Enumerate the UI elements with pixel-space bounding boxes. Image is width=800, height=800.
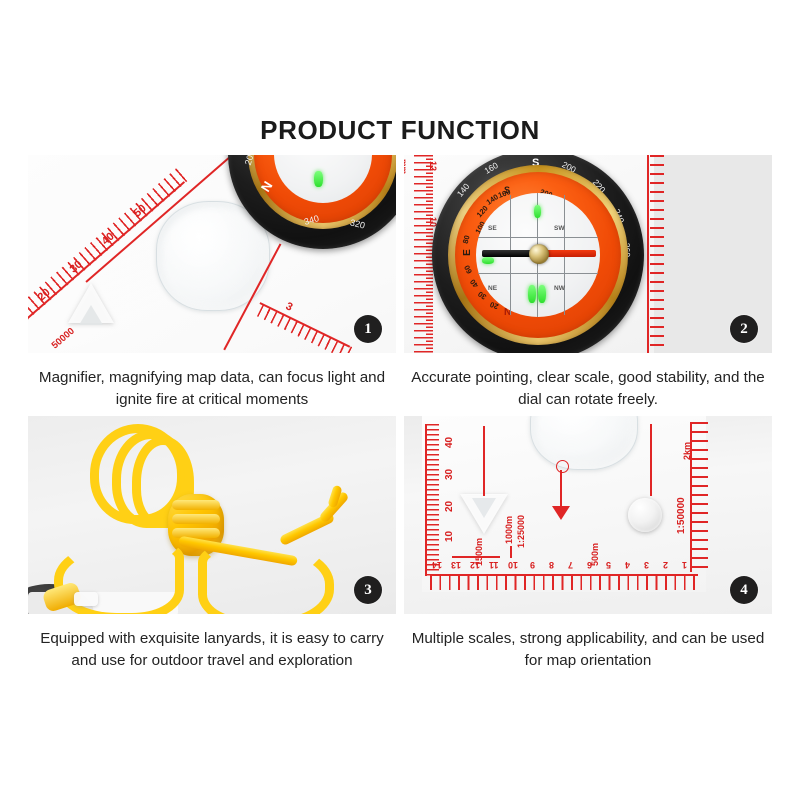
step-badge-1: 1 — [354, 315, 382, 343]
direction-arrow-head — [552, 506, 570, 520]
feature-card-4: 10 20 30 40 1:25000 1000m 1500m — [404, 416, 772, 671]
left-ruler-ticks — [414, 155, 426, 353]
bottom-ruler-label-1: 1 — [682, 560, 687, 570]
triangle-sight-inner — [79, 305, 103, 325]
dial-intercardinal-nw: NW — [554, 285, 565, 292]
compass-dial-full: 140 160 200 220 240 260 280 300 320 340 … — [432, 155, 644, 353]
feature-image-2: 12 10 mm 140 160 200 220 240 260 — [404, 155, 772, 353]
product-function-infographic: PRODUCT FUNCTION 20 30 40 50 — [0, 0, 800, 800]
lume-marker-bottom-left — [528, 285, 536, 303]
feature-image-4: 10 20 30 40 1:25000 1000m 1500m — [404, 416, 772, 614]
step-badge-2: 2 — [730, 315, 758, 343]
bottom-ruler-label-4: 4 — [625, 560, 630, 570]
feature-card-3: 3 Equipped with exquisite lanyards, it i… — [28, 416, 396, 671]
sight-center-line — [483, 426, 485, 496]
bottom-ruler-label-10: 10 — [508, 560, 518, 570]
lume-marker-bottom-right — [538, 285, 546, 303]
feature-caption-4: Multiple scales, strong applicability, a… — [404, 628, 772, 671]
bottom-ruler-label-11: 11 — [489, 560, 499, 570]
scale-mid-tick — [510, 546, 512, 558]
dial-cardinal-e: E — [462, 249, 473, 256]
feature-caption-1: Magnifier, magnifying map data, can focu… — [28, 367, 396, 410]
dial-intercardinal-sw: SW — [554, 225, 564, 232]
scale-ratio-50000: 1:50000 — [676, 497, 687, 534]
page-title: PRODUCT FUNCTION — [0, 115, 800, 146]
rotating-knob — [628, 498, 662, 532]
knob-center-line — [650, 424, 652, 496]
distance-label-1000m: 1000m — [504, 516, 514, 544]
bottom-ruler-label-8: 8 — [549, 560, 554, 570]
feature-caption-3: Equipped with exquisite lanyards, it is … — [28, 628, 396, 671]
dial-intercardinal-ne: NE — [488, 285, 497, 292]
left-ruler-label-20: 20 — [444, 501, 455, 512]
bottom-ruler-label-2: 2 — [663, 560, 668, 570]
left-ruler-label-10: 10 — [444, 531, 455, 542]
left-ruler-ticks — [426, 424, 439, 576]
unit-label-mm: mm — [404, 159, 409, 174]
bottom-ruler-label-6: 6 — [587, 560, 592, 570]
lanyard-toggle — [74, 592, 98, 606]
left-ruler-baseline — [425, 424, 427, 576]
feature-image-1: 20 30 40 50 50000 3 — [28, 155, 396, 353]
bottom-ruler-label-9: 9 — [530, 560, 535, 570]
feature-grid: 20 30 40 50 50000 3 — [28, 155, 772, 671]
bottom-ruler-ticks — [430, 576, 698, 590]
lume-marker-left — [482, 257, 494, 264]
feature-caption-2: Accurate pointing, clear scale, good sta… — [404, 367, 772, 410]
triangle-sight-inner — [472, 498, 496, 518]
lume-marker-top — [534, 205, 541, 218]
scale-ratio-25000: 1:25000 — [516, 515, 526, 548]
bottom-ruler-label-3: 3 — [644, 560, 649, 570]
feature-card-1: 20 30 40 50 50000 3 — [28, 155, 396, 410]
bottom-ruler-label-5: 5 — [606, 560, 611, 570]
orienting-line-5 — [478, 273, 598, 274]
orienting-line-4 — [478, 237, 598, 238]
needle-pivot — [529, 244, 549, 264]
feature-card-2: 12 10 mm 140 160 200 220 240 260 — [404, 155, 772, 410]
bottom-ruler-label-12: 12 — [470, 560, 480, 570]
right-ruler-ticks — [692, 422, 708, 572]
bottom-ruler-label-7: 7 — [568, 560, 573, 570]
bottom-ruler-label-14: 14 — [432, 560, 442, 570]
dial-intercardinal-se: SE — [488, 225, 497, 232]
scale-span-line-left — [452, 556, 500, 558]
right-ruler-ticks — [650, 155, 664, 353]
right-ruler-edge-line — [647, 155, 649, 353]
lume-marker — [314, 171, 323, 187]
lanyard-knot-wrap-3 — [172, 528, 220, 538]
bottom-ruler-label-13: 13 — [451, 560, 461, 570]
lanyard-knot-wrap-1 — [172, 500, 220, 510]
left-ruler-label-30: 30 — [444, 469, 455, 480]
feature-image-3: 3 — [28, 416, 396, 614]
step-badge-4: 4 — [730, 576, 758, 604]
step-badge-3: 3 — [354, 576, 382, 604]
lanyard-knot-wrap-2 — [172, 514, 220, 524]
compass-dial-partial: N 20 340 320 NN — [228, 155, 396, 249]
left-ruler-label-40: 40 — [444, 437, 455, 448]
right-ruler-baseline — [690, 422, 692, 572]
